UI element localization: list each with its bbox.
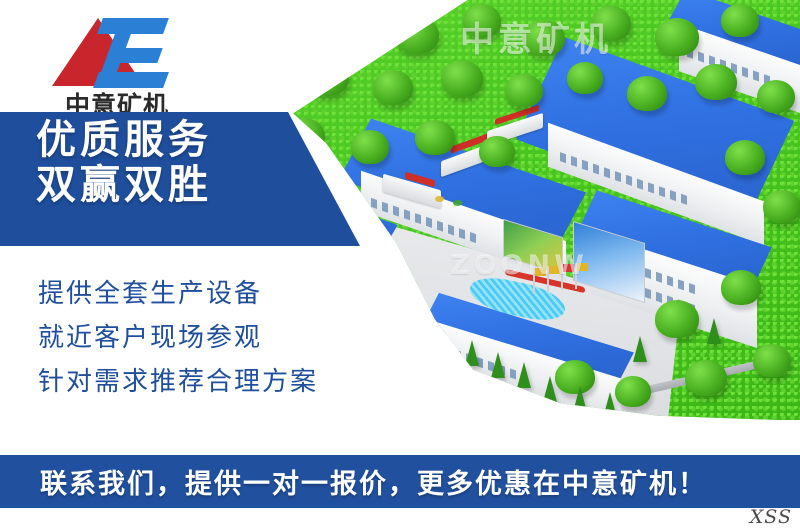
tree — [721, 270, 761, 305]
tree — [351, 130, 389, 164]
tree — [415, 120, 455, 155]
benefit-list: 提供全套生产设备 就近客户现场参观 针对需求推荐合理方案 — [38, 272, 398, 405]
flag-pole — [561, 264, 563, 290]
tree — [273, 8, 313, 44]
flag-pole — [533, 268, 535, 294]
conifer-tree — [707, 318, 721, 344]
conifer-tree — [491, 352, 505, 378]
tree — [463, 4, 501, 38]
tree — [523, 20, 565, 56]
letter-e-bar-top-icon — [97, 18, 169, 34]
cta-banner-text: 联系我们，提供一对一报价，更多优惠在中意矿机！ — [40, 462, 707, 501]
tree — [305, 58, 349, 96]
tree — [627, 76, 667, 111]
tree — [763, 190, 800, 223]
tree — [655, 18, 699, 56]
conifer-tree — [543, 376, 557, 402]
tree — [757, 80, 795, 113]
conifer-tree — [517, 362, 531, 388]
headline-text: 优质服务 双赢双胜 — [36, 118, 336, 208]
tree — [655, 300, 699, 338]
headline-line-2: 双赢双胜 — [36, 163, 336, 208]
benefit-item-2: 就近客户现场参观 — [38, 316, 398, 360]
company-logo[interactable]: 中意矿机 — [52, 6, 182, 108]
tree — [567, 62, 603, 94]
tree — [695, 64, 737, 100]
tree — [725, 140, 765, 175]
tree — [505, 74, 543, 107]
benefit-item-3: 针对需求推荐合理方案 — [38, 360, 398, 404]
shrub — [289, 248, 298, 254]
tree — [591, 6, 631, 41]
tree — [615, 376, 651, 407]
footer-watermark: XSS — [750, 506, 792, 528]
headline-line-1: 优质服务 — [36, 118, 336, 163]
flag-pole — [547, 266, 549, 292]
conifer-tree — [573, 386, 587, 412]
shrub — [307, 252, 316, 258]
tree — [753, 344, 791, 377]
benefit-item-1: 提供全套生产设备 — [38, 272, 398, 316]
tree — [373, 70, 413, 105]
flag-pole — [575, 263, 577, 289]
cta-banner[interactable]: 联系我们，提供一对一报价，更多优惠在中意矿机！ — [0, 455, 800, 508]
letter-e-bar-mid-icon — [105, 48, 162, 63]
tree — [395, 16, 439, 54]
shrub — [325, 256, 334, 262]
tree — [721, 4, 759, 37]
shrub — [453, 200, 462, 206]
promo-poster: 中意矿机 ZOONW 中意矿机 优质服务 双赢双胜 提供全套生产设备 就近客户现… — [0, 0, 800, 530]
tree — [333, 2, 369, 34]
conifer-tree — [465, 340, 479, 366]
tree — [441, 60, 483, 97]
shrub — [435, 196, 444, 202]
tree — [685, 360, 727, 396]
tree — [479, 136, 515, 167]
conifer-tree — [603, 392, 617, 418]
conifer-tree — [633, 336, 647, 362]
